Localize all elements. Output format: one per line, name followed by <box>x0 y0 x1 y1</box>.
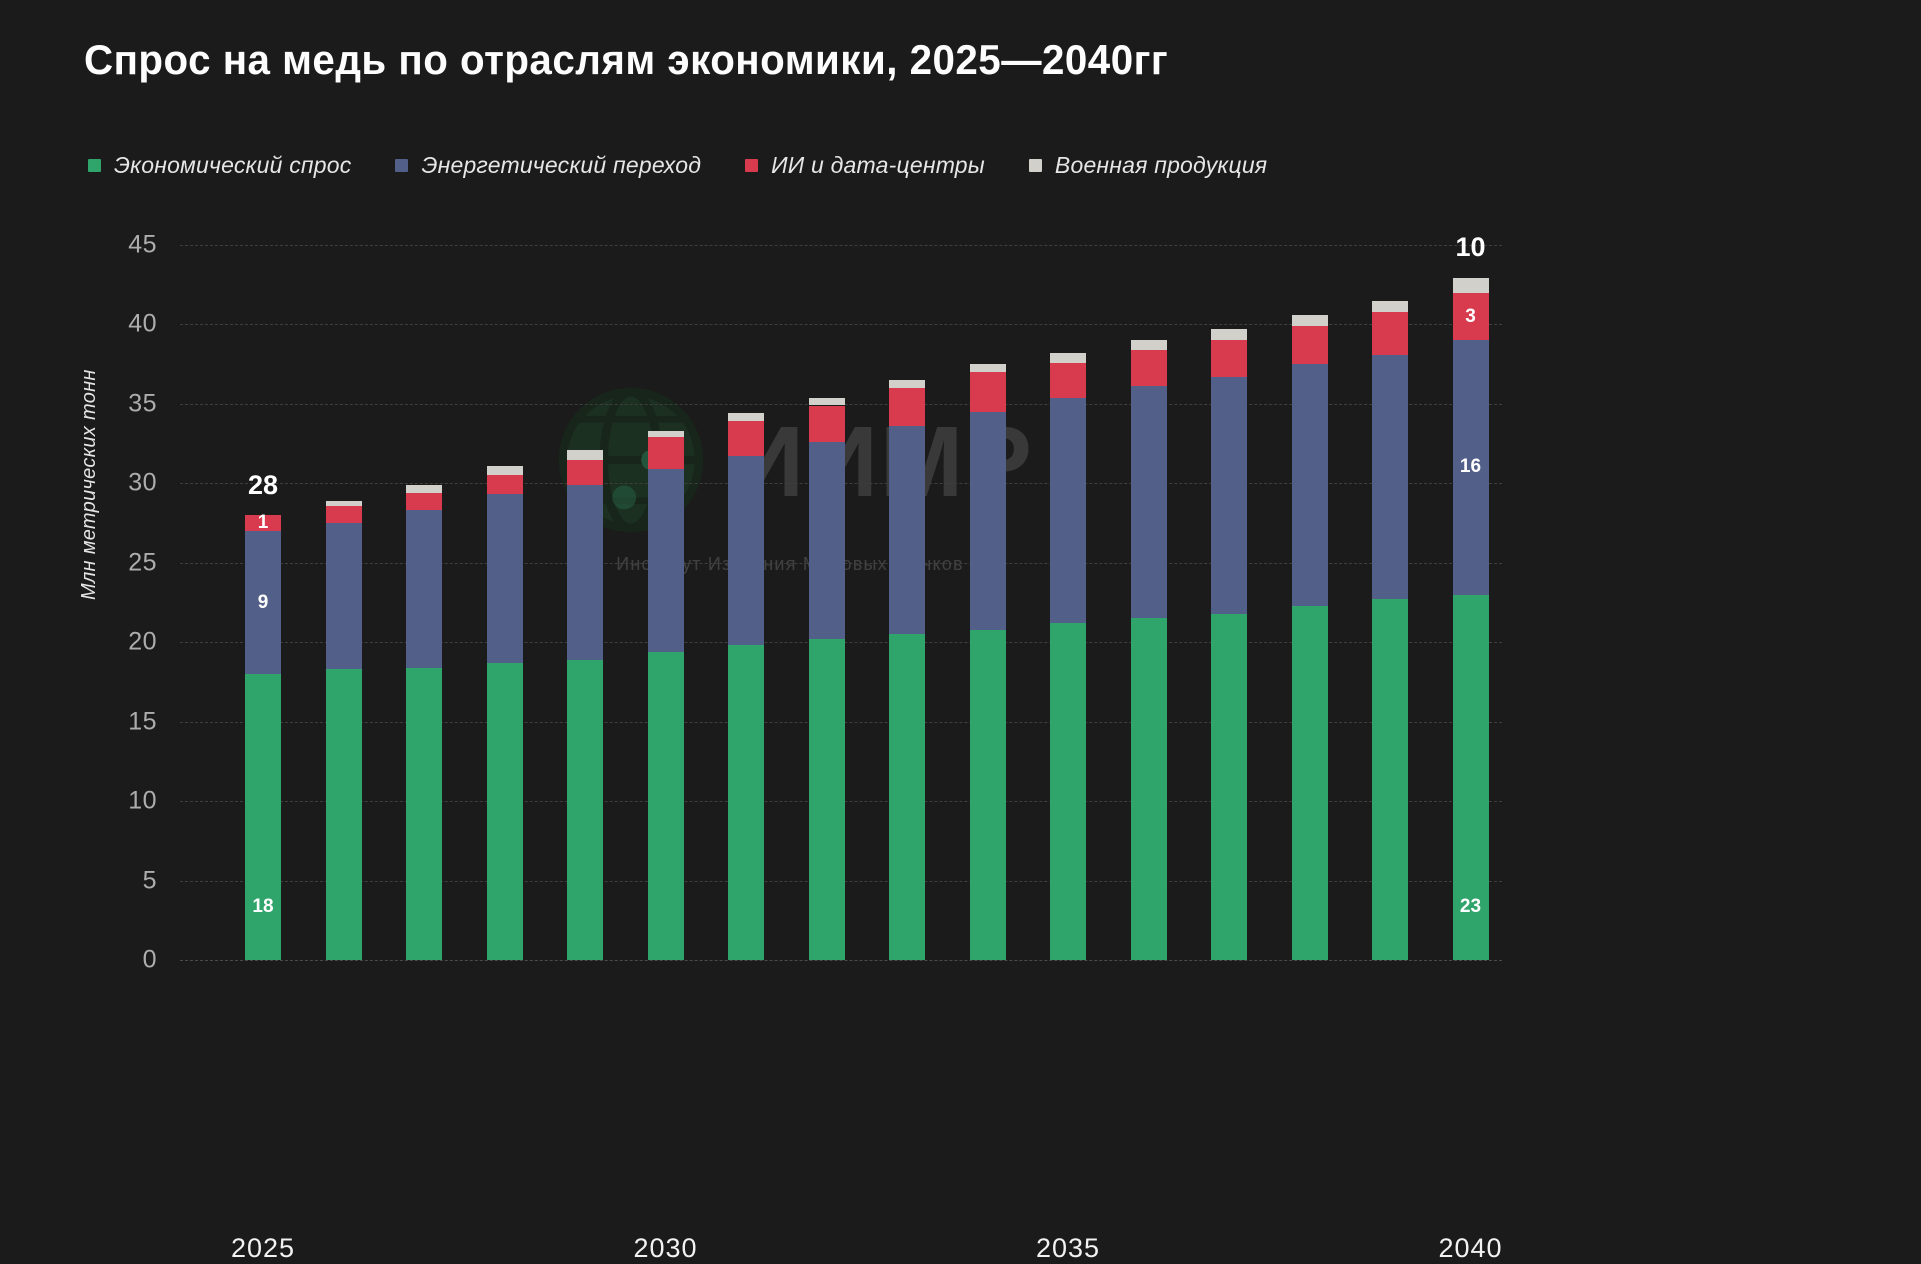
legend-item-1[interactable]: Экономический спрос <box>88 152 351 179</box>
bar-2029[interactable] <box>567 452 603 960</box>
chart-canvas: Спрос на медь по отраслям экономики, 202… <box>0 0 1921 1081</box>
economic-segment[interactable] <box>728 645 764 960</box>
legend-item-2[interactable]: Энергетический переход <box>395 152 701 179</box>
y-axis-tick-label: 45 <box>67 231 157 260</box>
economic-segment[interactable] <box>1131 618 1167 960</box>
bar-2036[interactable] <box>1131 340 1167 960</box>
bar-2027[interactable] <box>406 483 442 960</box>
ai-segment[interactable] <box>728 421 764 456</box>
bar-total-label: 28 <box>248 470 278 501</box>
ai-segment[interactable] <box>567 460 603 485</box>
economic-segment[interactable] <box>1050 623 1086 960</box>
square-swatch <box>88 159 101 172</box>
segment-value-label: 18 <box>245 896 281 918</box>
legend-item-label: Военная продукция <box>1055 152 1267 179</box>
energy-segment[interactable] <box>567 485 603 660</box>
axis-baseline <box>180 960 1502 961</box>
energy-segment[interactable] <box>406 510 442 667</box>
y-axis-tick-label: 10 <box>67 787 157 816</box>
plot-area: 4540353025201510501891282025203020352316… <box>180 245 1502 960</box>
bar-2030[interactable] <box>648 436 684 960</box>
y-axis-tick-label: 40 <box>67 310 157 339</box>
energy-segment[interactable] <box>809 442 845 639</box>
legend-item-label: ИИ и дата-центры <box>771 152 985 179</box>
ai-segment[interactable] <box>889 388 925 426</box>
economic-segment[interactable] <box>567 660 603 960</box>
military-segment[interactable] <box>1131 340 1167 350</box>
energy-segment[interactable] <box>889 426 925 634</box>
military-segment[interactable] <box>889 380 925 388</box>
military-segment[interactable] <box>1453 278 1489 292</box>
ai-segment[interactable] <box>406 493 442 510</box>
bar-2032[interactable] <box>809 404 845 960</box>
military-segment[interactable] <box>487 466 523 476</box>
y-axis-tick-label: 0 <box>67 946 157 975</box>
military-segment[interactable] <box>1211 329 1247 340</box>
ai-segment[interactable] <box>648 437 684 469</box>
bar-2037[interactable] <box>1211 324 1247 960</box>
bar-2038[interactable] <box>1292 309 1328 960</box>
military-segment[interactable] <box>970 364 1006 372</box>
legend-item-label: Экономический спрос <box>114 152 351 179</box>
military-segment[interactable] <box>406 485 442 493</box>
energy-segment[interactable] <box>1211 377 1247 614</box>
bar-2031[interactable] <box>728 420 764 960</box>
energy-segment[interactable] <box>728 456 764 645</box>
energy-segment[interactable]: 16 <box>1453 340 1489 594</box>
economic-segment[interactable] <box>1372 599 1408 960</box>
ai-segment[interactable] <box>970 372 1006 412</box>
energy-segment[interactable]: 9 <box>245 531 281 674</box>
bar-2035[interactable] <box>1050 356 1086 960</box>
energy-segment[interactable] <box>1131 386 1167 618</box>
military-segment[interactable] <box>1372 301 1408 312</box>
economic-segment[interactable] <box>487 663 523 960</box>
x-axis-tick-label: 2025 <box>231 1233 295 1264</box>
bar-2026[interactable] <box>326 499 362 960</box>
bar-total-label: 10 <box>1455 232 1485 263</box>
x-axis-tick-label: 2040 <box>1438 1233 1502 1264</box>
economic-segment[interactable] <box>326 669 362 960</box>
economic-segment[interactable] <box>1211 614 1247 960</box>
square-swatch <box>1029 159 1042 172</box>
economic-segment[interactable]: 18 <box>245 674 281 960</box>
economic-segment[interactable] <box>648 652 684 960</box>
ai-segment[interactable] <box>487 475 523 494</box>
ai-segment[interactable] <box>1050 363 1086 398</box>
square-swatch <box>745 159 758 172</box>
y-axis-tick-label: 20 <box>67 628 157 657</box>
military-segment[interactable] <box>567 450 603 460</box>
segment-value-label: 1 <box>245 512 281 534</box>
bar-2028[interactable] <box>487 467 523 960</box>
segment-value-label: 16 <box>1453 456 1489 478</box>
military-segment[interactable] <box>1050 353 1086 363</box>
ai-segment[interactable] <box>1131 350 1167 387</box>
chart-legend: Экономический спросЭнергетический перехо… <box>88 152 1267 179</box>
energy-segment[interactable] <box>970 412 1006 630</box>
gridline-45 <box>180 245 1502 246</box>
square-swatch <box>395 159 408 172</box>
economic-segment[interactable]: 23 <box>1453 595 1489 960</box>
y-axis-tick-label: 15 <box>67 707 157 736</box>
economic-segment[interactable] <box>970 630 1006 960</box>
y-axis-tick-label: 5 <box>67 866 157 895</box>
bar-2034[interactable] <box>970 372 1006 960</box>
military-segment[interactable] <box>326 501 362 506</box>
bar-2039[interactable] <box>1372 293 1408 960</box>
legend-item-label: Энергетический переход <box>421 152 701 179</box>
military-segment[interactable] <box>648 431 684 437</box>
energy-segment[interactable] <box>1372 355 1408 600</box>
legend-item-3[interactable]: ИИ и дата-центры <box>745 152 985 179</box>
energy-segment[interactable] <box>648 469 684 652</box>
bar-2033[interactable] <box>889 388 925 960</box>
ai-segment[interactable] <box>1211 340 1247 377</box>
bar-2025[interactable]: 189128 <box>245 515 281 960</box>
x-axis-tick-label: 2035 <box>1036 1233 1100 1264</box>
economic-segment[interactable] <box>809 639 845 960</box>
economic-segment[interactable] <box>1292 606 1328 960</box>
energy-segment[interactable] <box>487 494 523 662</box>
page-title: Спрос на медь по отраслям экономики, 202… <box>84 36 1168 84</box>
ai-segment[interactable]: 1 <box>245 515 281 531</box>
legend-item-4[interactable]: Военная продукция <box>1029 152 1267 179</box>
military-segment[interactable] <box>809 398 845 406</box>
energy-segment[interactable] <box>326 523 362 669</box>
segment-value-label: 3 <box>1453 306 1489 328</box>
ai-segment[interactable] <box>326 506 362 523</box>
ai-segment[interactable] <box>1292 326 1328 364</box>
economic-segment[interactable] <box>406 668 442 960</box>
military-segment[interactable] <box>728 413 764 421</box>
bar-2040[interactable]: 2316310 <box>1453 277 1489 960</box>
economic-segment[interactable] <box>889 634 925 960</box>
energy-segment[interactable] <box>1050 398 1086 624</box>
ai-segment[interactable] <box>1372 312 1408 355</box>
ai-segment[interactable]: 3 <box>1453 293 1489 341</box>
y-axis-title: Млн метрических тонн <box>78 369 101 600</box>
military-segment[interactable] <box>1292 315 1328 326</box>
x-axis-tick-label: 2030 <box>633 1233 697 1264</box>
segment-value-label: 23 <box>1453 896 1489 918</box>
ai-segment[interactable] <box>809 406 845 443</box>
segment-value-label: 9 <box>245 592 281 614</box>
energy-segment[interactable] <box>1292 364 1328 606</box>
